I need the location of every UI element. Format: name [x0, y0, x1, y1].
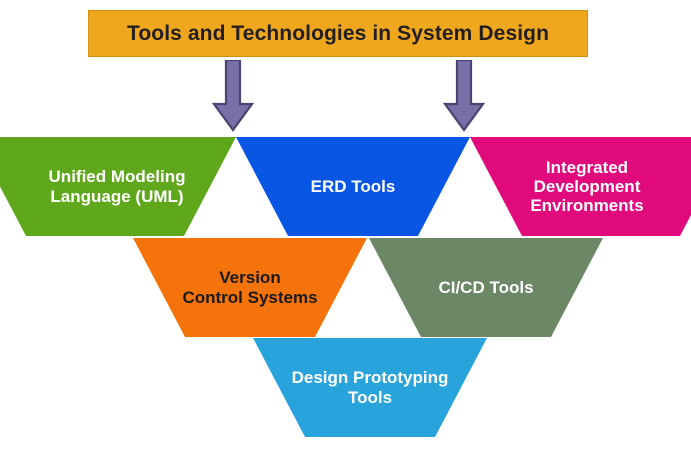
funnel-segment-uml[interactable]: Unified Modeling Language (UML) — [0, 137, 236, 236]
funnel-label-erd-tools: ERD Tools — [305, 177, 402, 196]
funnel-label-cicd-tools: CI/CD Tools — [432, 278, 539, 297]
funnel-label-uml: Unified Modeling Language (UML) — [43, 167, 192, 205]
arrow-right-down-arrow-icon — [443, 60, 485, 132]
funnel-segment-design-prototyping[interactable]: Design Prototyping Tools — [253, 338, 487, 437]
funnel-segment-ide[interactable]: Integrated Development Environments — [470, 137, 691, 236]
diagram-title-banner: Tools and Technologies in System Design — [88, 10, 588, 57]
funnel-segment-version-control[interactable]: Version Control Systems — [133, 238, 367, 337]
funnel-segment-cicd-tools[interactable]: CI/CD Tools — [369, 238, 603, 337]
funnel-label-design-prototyping: Design Prototyping Tools — [286, 368, 455, 406]
page-title: Tools and Technologies in System Design — [127, 22, 549, 46]
funnel-segment-erd-tools[interactable]: ERD Tools — [236, 137, 470, 236]
funnel-label-ide: Integrated Development Environments — [524, 158, 649, 215]
arrow-left-down-arrow-icon — [212, 60, 254, 132]
funnel-label-version-control: Version Control Systems — [176, 268, 323, 306]
diagram-canvas: Tools and Technologies in System Design … — [0, 0, 691, 475]
